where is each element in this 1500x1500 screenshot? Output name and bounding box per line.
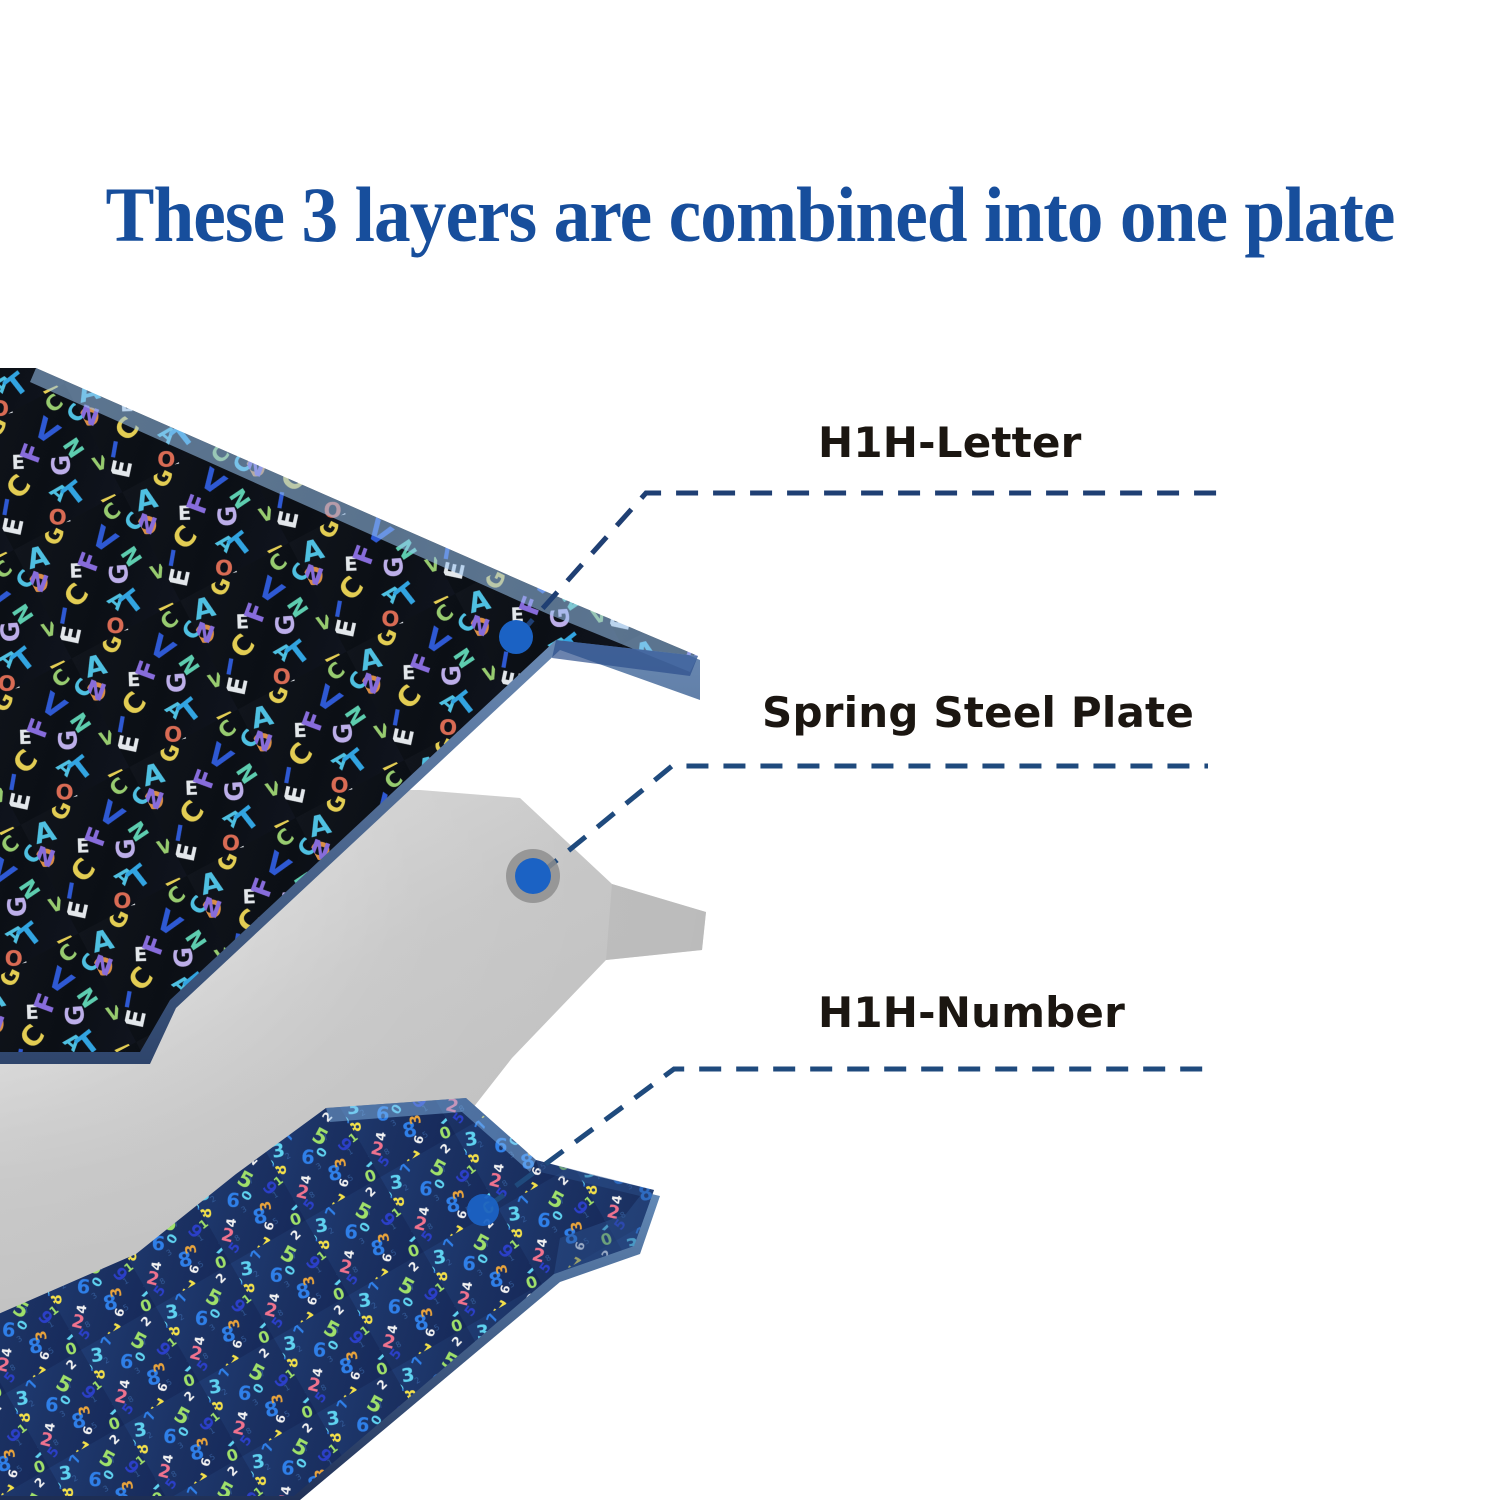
callout-label-h1h-number: H1H-Number (818, 988, 1125, 1037)
callout-label-spring-steel-plate: Spring Steel Plate (762, 688, 1194, 737)
exploded-layers-illustration: A G V C O E F N I C A G V E O T A (0, 0, 1500, 1500)
callout-label-h1h-letter: H1H-Letter (818, 418, 1082, 467)
diagram-canvas: These 3 layers are combined into one pla… (0, 0, 1500, 1500)
